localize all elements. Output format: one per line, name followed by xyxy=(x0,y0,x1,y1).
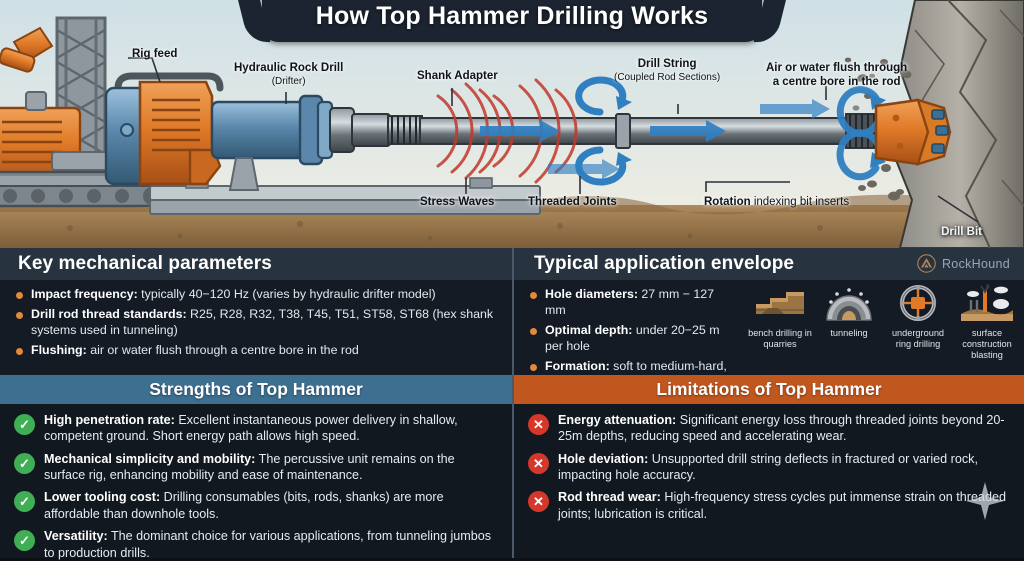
cross-icon: ✕ xyxy=(528,414,549,435)
limitation-item: ✕ Rod thread wear: High-frequency stress… xyxy=(528,489,1010,522)
bullet-text: air or water flush through a centre bore… xyxy=(87,343,359,357)
item-label: Versatility: xyxy=(44,529,108,543)
tunneling-icon xyxy=(821,284,877,322)
infographic-page: How Top Hammer Drilling Works Rig feed H… xyxy=(0,0,1024,558)
app-icon-caption: bench drilling in quarries xyxy=(747,328,813,350)
application-envelope-panel: Typical application envelope RockHound xyxy=(512,248,1024,375)
mountain-circle-logo-icon xyxy=(917,254,936,273)
application-envelope-header: Typical application envelope RockHound xyxy=(514,248,1024,280)
app-icon-caption: underground ring drilling xyxy=(885,328,951,350)
strengths-heading: Strengths of Top Hammer xyxy=(149,379,363,400)
title-banner: How Top Hammer Drilling Works xyxy=(262,0,762,42)
bullet-item: Flushing: air or water flush through a c… xyxy=(16,343,502,359)
check-icon: ✓ xyxy=(14,530,35,551)
bullet-item: Optimal depth: under 20−25 m per hole xyxy=(530,323,737,355)
item-text: The dominant choice for various applicat… xyxy=(44,529,491,559)
item-label: Lower tooling cost: xyxy=(44,490,160,504)
check-icon: ✓ xyxy=(14,453,35,474)
surface-blasting-icon xyxy=(959,284,1015,322)
limitations-list: ✕ Energy attenuation: Significant energy… xyxy=(514,404,1024,522)
label-stress-waves: Stress Waves xyxy=(420,196,494,210)
label-threaded-joints: Threaded Joints xyxy=(528,196,617,210)
bullet-label: Formation: xyxy=(545,359,610,373)
limitation-item: ✕ Energy attenuation: Significant energy… xyxy=(528,412,1010,445)
bullet-label: Hole diameters: xyxy=(545,287,638,301)
item-label: Hole deviation: xyxy=(558,452,648,466)
bullet-dot-icon xyxy=(530,364,537,371)
item-label: High penetration rate: xyxy=(44,413,175,427)
bullet-label: Impact frequency: xyxy=(31,287,138,301)
bench-drilling-icon xyxy=(752,284,808,322)
bullet-item: Hole diameters: 27 mm − 127 mm xyxy=(530,287,737,319)
brand-logo: RockHound xyxy=(917,254,1010,273)
key-parameters-panel: Key mechanical parameters Impact frequen… xyxy=(0,248,512,375)
strengths-list: ✓ High penetration rate: Excellent insta… xyxy=(0,404,512,561)
key-parameters-header: Key mechanical parameters xyxy=(0,248,512,280)
page-title: How Top Hammer Drilling Works xyxy=(316,2,708,31)
strength-item: ✓ High penetration rate: Excellent insta… xyxy=(14,412,498,445)
bullet-item: Drill rod thread standards: R25, R28, R3… xyxy=(16,307,502,339)
app-icon-caption: surface construction blasting xyxy=(954,328,1020,361)
bullet-label: Optimal depth: xyxy=(545,323,632,337)
ring-drilling-icon xyxy=(890,284,946,322)
bullet-label: Drill rod thread standards: xyxy=(31,307,187,321)
strengths-column: Strengths of Top Hammer ✓ High penetrati… xyxy=(0,375,512,558)
bullet-text: typically 40−120 Hz (varies by hydraulic… xyxy=(138,287,436,301)
app-icon-caption: tunneling xyxy=(816,328,882,339)
item-label: Rod thread wear: xyxy=(558,490,661,504)
limitation-item: ✕ Hole deviation: Unsupported drill stri… xyxy=(528,451,1010,484)
check-icon: ✓ xyxy=(14,414,35,435)
label-drill-string: Drill String (Coupled Rod Sections) xyxy=(614,58,720,83)
limitations-header: Limitations of Top Hammer xyxy=(514,375,1024,404)
bullet-dot-icon xyxy=(16,312,23,319)
label-drill-bit: Drill Bit xyxy=(941,226,982,240)
pros-cons-row: Strengths of Top Hammer ✓ High penetrati… xyxy=(0,375,1024,558)
limitations-heading: Limitations of Top Hammer xyxy=(656,379,881,400)
application-envelope-heading: Typical application envelope xyxy=(534,253,794,275)
item-label: Energy attenuation: xyxy=(558,413,676,427)
cross-icon: ✕ xyxy=(528,453,549,474)
hero-illustration: How Top Hammer Drilling Works Rig feed H… xyxy=(0,0,1024,248)
bullet-dot-icon xyxy=(530,292,537,299)
bullet-dot-icon xyxy=(530,328,537,335)
cross-icon: ✕ xyxy=(528,491,549,512)
strengths-header: Strengths of Top Hammer xyxy=(0,375,512,404)
strength-item: ✓ Lower tooling cost: Drilling consumabl… xyxy=(14,489,498,522)
brand-name: RockHound xyxy=(942,257,1010,271)
check-icon: ✓ xyxy=(14,491,35,512)
label-hydraulic-rock-drill: Hydraulic Rock Drill (Drifter) xyxy=(234,62,343,87)
limitations-column: Limitations of Top Hammer ✕ Energy atten… xyxy=(512,375,1024,558)
key-parameters-list: Impact frequency: typically 40−120 Hz (v… xyxy=(0,280,512,359)
label-rotation: Rotation indexing bit inserts xyxy=(704,196,849,210)
label-rig-feed: Rig feed xyxy=(132,48,177,62)
key-parameters-heading: Key mechanical parameters xyxy=(18,253,272,275)
label-flush-note: Air or water flush through a centre bore… xyxy=(766,62,907,89)
bullet-dot-icon xyxy=(16,292,23,299)
bullet-item: Impact frequency: typically 40−120 Hz (v… xyxy=(16,287,502,303)
label-shank-adapter: Shank Adapter xyxy=(417,70,498,84)
sparkle-icon xyxy=(964,480,1006,522)
bullet-dot-icon xyxy=(16,348,23,355)
bullet-label: Flushing: xyxy=(31,343,87,357)
strength-item: ✓ Mechanical simplicity and mobility: Th… xyxy=(14,451,498,484)
item-label: Mechanical simplicity and mobility: xyxy=(44,452,255,466)
strength-item: ✓ Versatility: The dominant choice for v… xyxy=(14,528,498,561)
parameters-row: Key mechanical parameters Impact frequen… xyxy=(0,248,1024,375)
